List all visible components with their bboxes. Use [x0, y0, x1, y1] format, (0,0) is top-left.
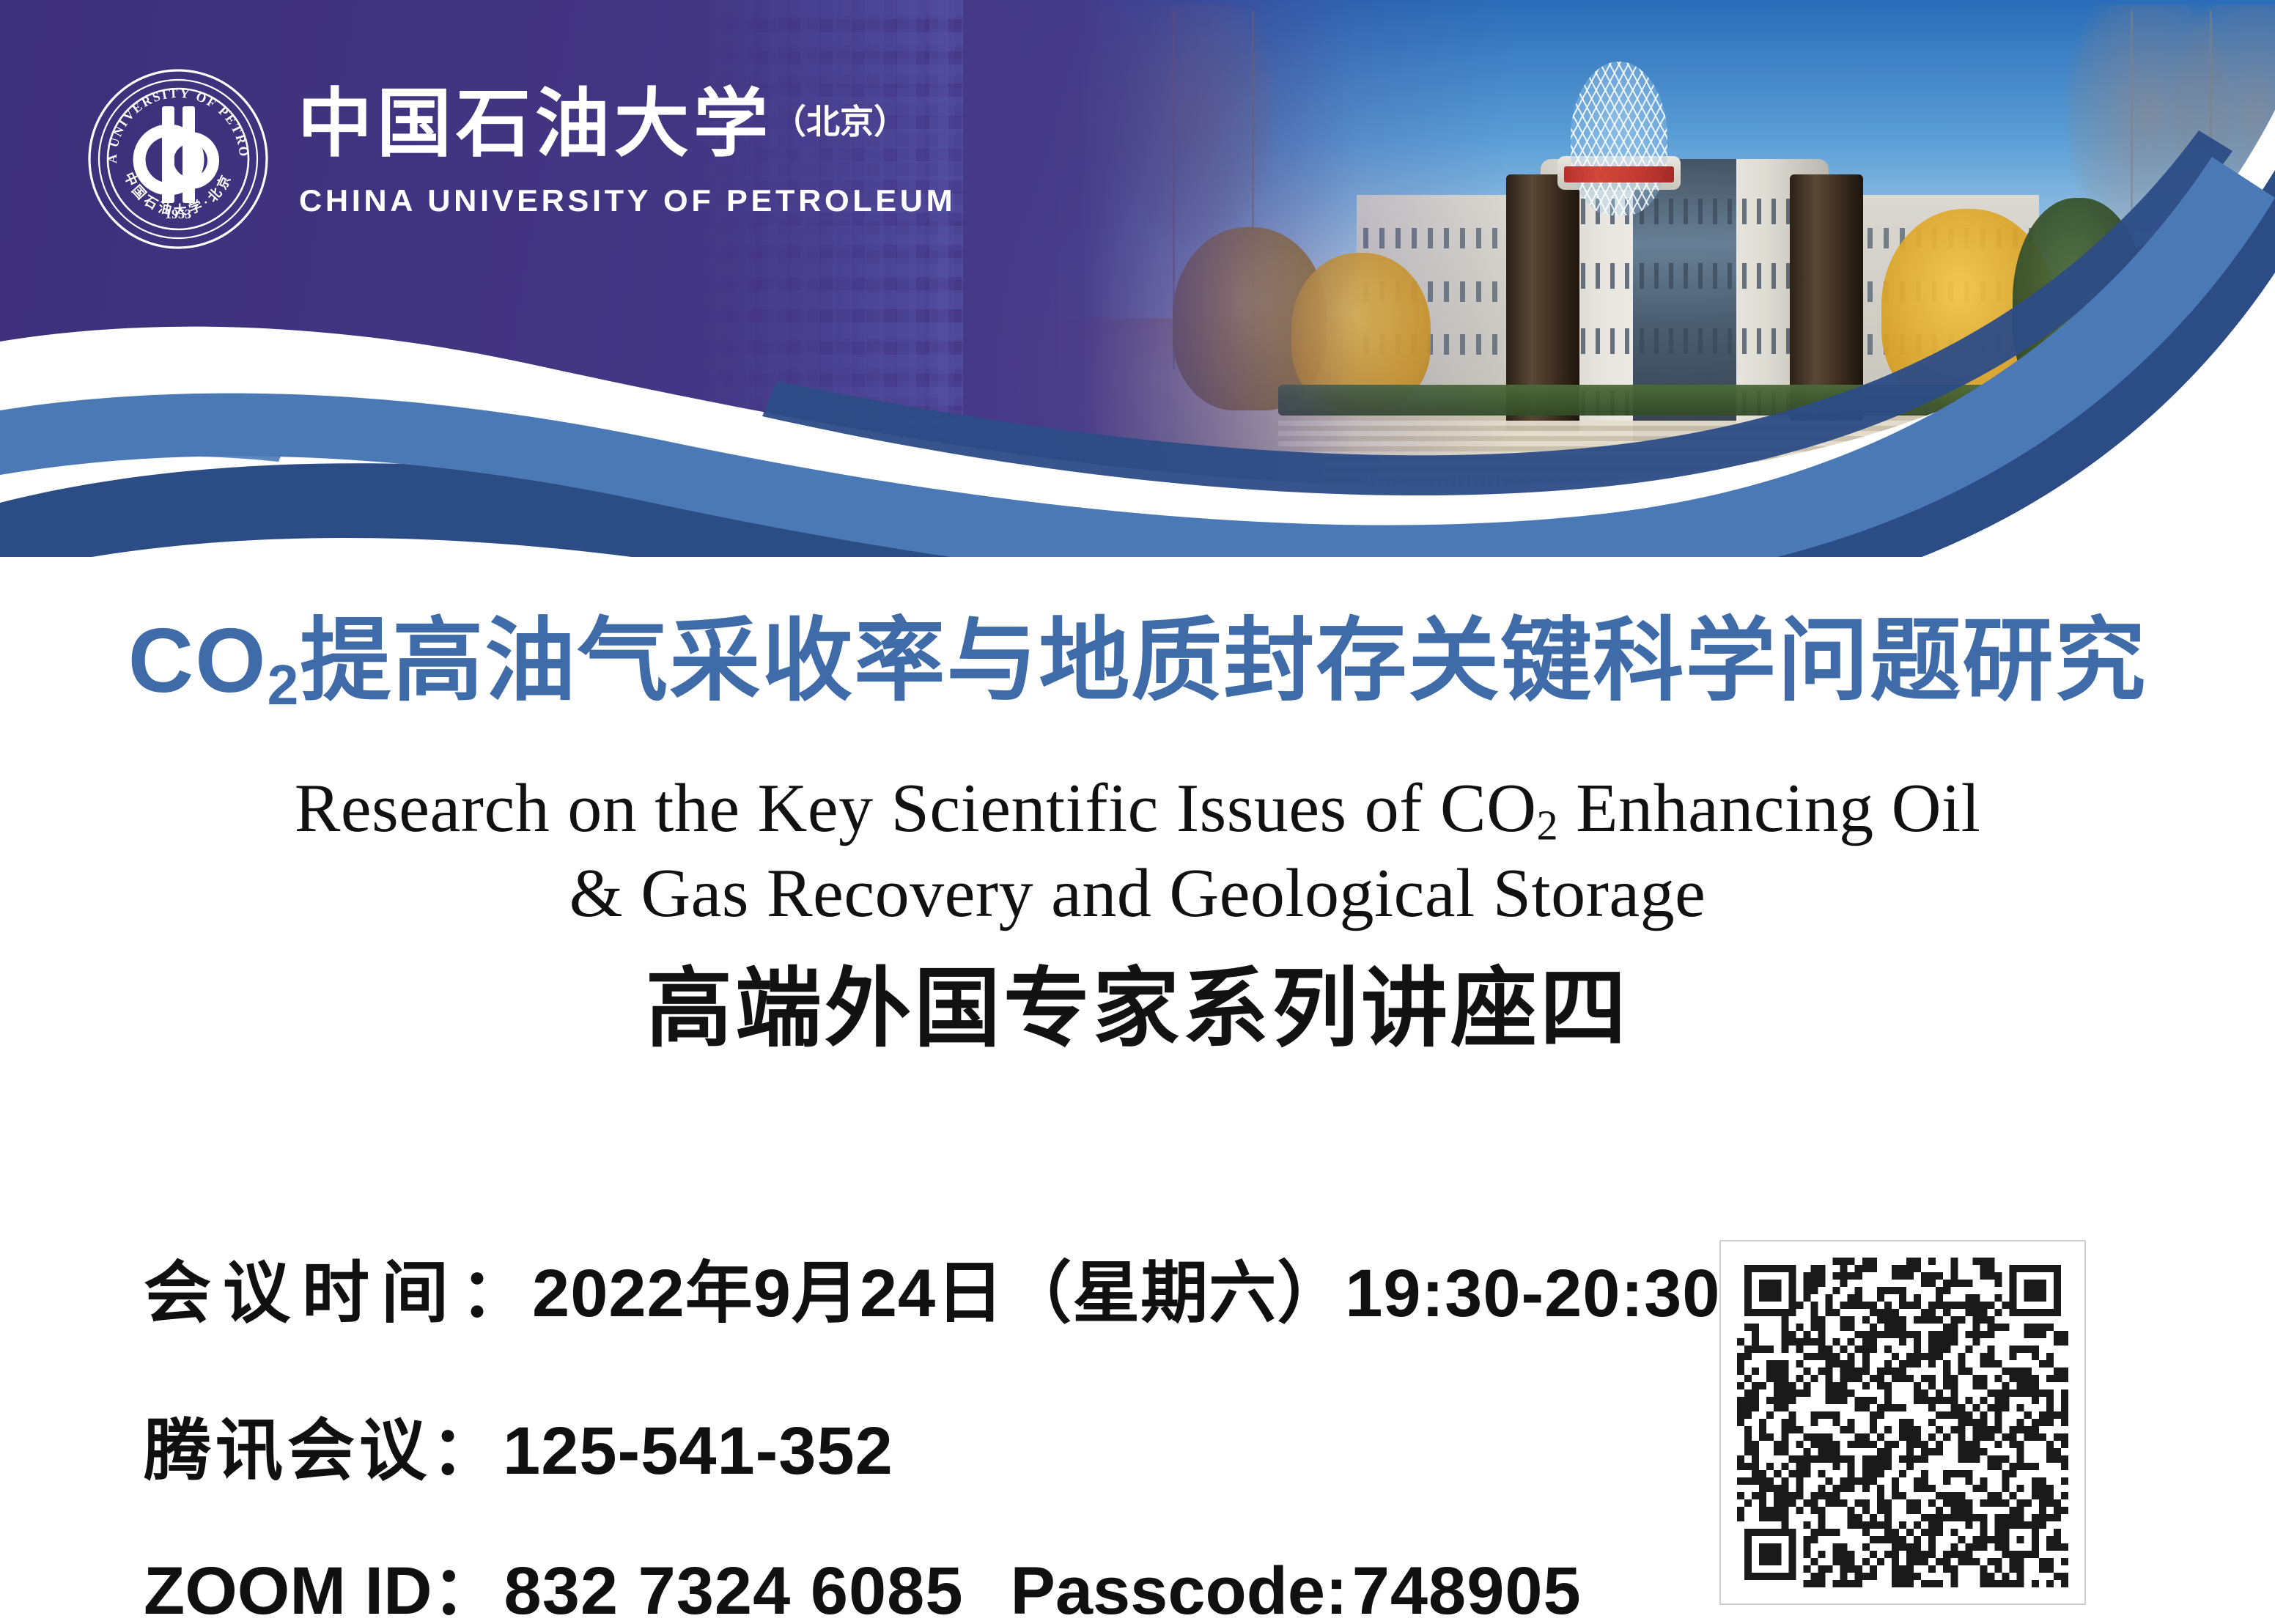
meeting-time-colon: ： — [460, 1239, 528, 1336]
page-title-cn: CO2提高油气采收率与地质封存关键科学问题研究 — [0, 616, 2275, 714]
page-subtitle-en: Research on the Key Scientific Issues of… — [0, 767, 2275, 935]
subtitle-en-line1: Research on the Key Scientific Issues of… — [0, 767, 2275, 852]
university-logo-lockup: CHINA UNIVERSITY OF PETROLEUM 中国石油大学·北京 … — [86, 67, 878, 236]
wordmark-cn-text: 中国石油大学 — [298, 84, 773, 166]
qr-code-panel[interactable] — [1719, 1240, 2086, 1605]
title-cn-post: 提高油气采收率与地质封存关键科学问题研究 — [300, 610, 2147, 712]
campus-photo — [963, 0, 2275, 513]
subtitle-en-line1-sub: 2 — [1537, 802, 1559, 849]
meeting-time-label: 会议时间 — [144, 1239, 460, 1336]
svg-text:1953: 1953 — [165, 207, 191, 221]
meeting-qr-code-icon[interactable] — [1737, 1258, 2068, 1587]
zoom-row: ZOOM ID：832 7324 6085 Passcode:748905 — [144, 1536, 1697, 1624]
wordmark-cn-paren: （北京） — [773, 103, 907, 141]
poster-root: CHINA UNIVERSITY OF PETROLEUM 中国石油大学·北京 … — [0, 0, 2275, 1624]
title-cn-pre: CO — [128, 610, 268, 712]
zoom-id-value: 832 7324 6085 — [504, 1553, 964, 1624]
university-seal-icon: CHINA UNIVERSITY OF PETROLEUM 中国石油大学·北京 … — [86, 67, 270, 251]
zoom-id-label: ZOOM ID — [144, 1553, 432, 1624]
university-wordmark-en: CHINA UNIVERSITY OF PETROLEUM — [299, 183, 956, 218]
tencent-meeting-label: 腾讯会议 — [144, 1396, 431, 1494]
university-wordmark-cn: 中国石油大学（北京） — [298, 88, 811, 176]
zoom-id-colon: ： — [432, 1536, 500, 1624]
meeting-time-value: 2022年9月24日（星期六）19:30-20:30 — [532, 1239, 1720, 1336]
zoom-passcode-label: Passcode: — [1010, 1553, 1347, 1624]
subtitle-en-line2: & Gas Recovery and Geological Storage — [0, 852, 2275, 936]
tencent-meeting-row: 腾讯会议：125-541-352 — [144, 1396, 1697, 1494]
title-cn-sub: 2 — [268, 654, 300, 717]
photo-fade-overlay — [963, 0, 2275, 513]
subtitle-en-line1-pre: Research on the Key Scientific Issues of… — [295, 770, 1537, 846]
tencent-meeting-id: 125-541-352 — [503, 1413, 893, 1490]
page-subtitle-cn: 高端外国专家系列讲座四 — [0, 966, 2275, 1052]
tencent-meeting-colon: ： — [431, 1396, 498, 1494]
header-banner: CHINA UNIVERSITY OF PETROLEUM 中国石油大学·北京 … — [0, 0, 2275, 557]
zoom-passcode-value: 748905 — [1352, 1553, 1582, 1624]
meeting-info-block: 会议时间：2022年9月24日（星期六）19:30-20:30 腾讯会议：125… — [144, 1239, 1697, 1624]
subtitle-en-line1-post: Enhancing Oil — [1558, 770, 1980, 846]
meeting-time-row: 会议时间：2022年9月24日（星期六）19:30-20:30 — [144, 1239, 1697, 1336]
